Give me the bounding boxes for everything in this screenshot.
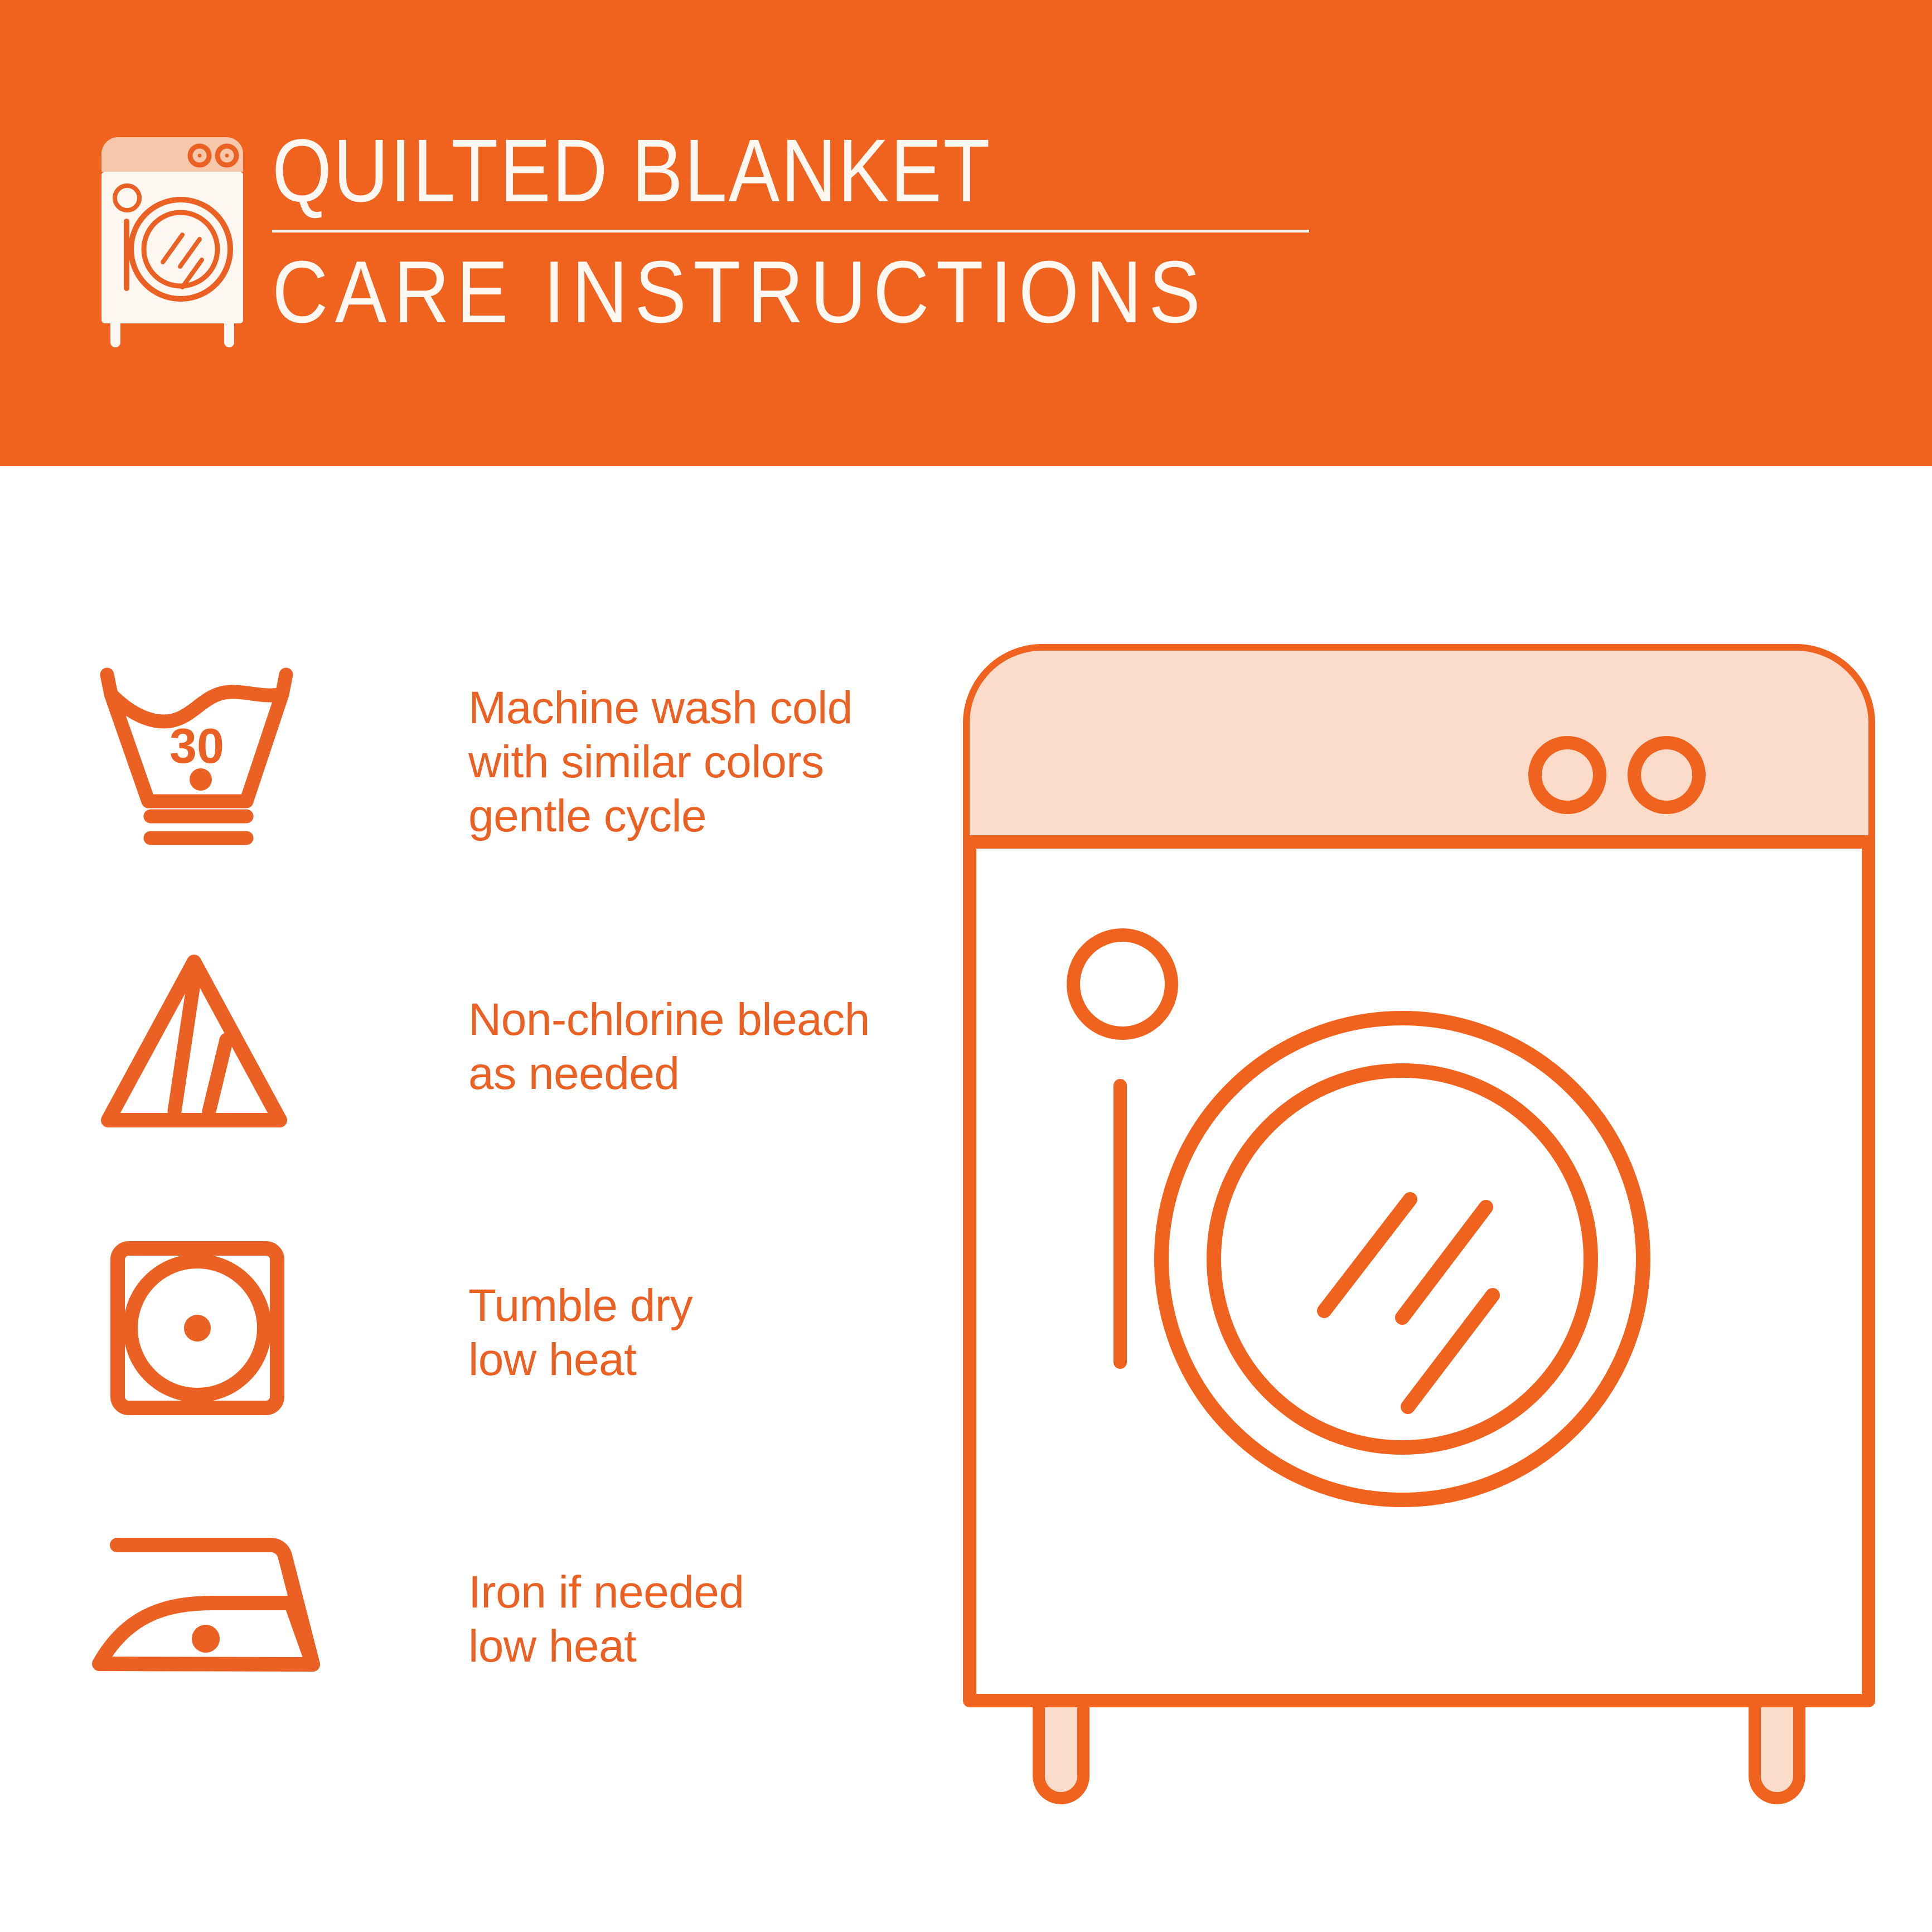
leg-right bbox=[1755, 1698, 1799, 1798]
page-subtitle: CARE INSTRUCTIONS bbox=[272, 246, 1204, 338]
care-label-iron: Iron if needed low heat bbox=[468, 1565, 931, 1673]
care-row-tumble-dry: Tumble dry low heat bbox=[84, 1218, 931, 1503]
care-label-line: low heat bbox=[468, 1333, 931, 1387]
header-inner: QUILTED BLANKET CARE INSTRUCTIONS bbox=[84, 124, 1366, 364]
leg-left bbox=[1039, 1698, 1083, 1798]
header-banner: QUILTED BLANKET CARE INSTRUCTIONS bbox=[0, 0, 1932, 466]
header-text-block: QUILTED BLANKET CARE INSTRUCTIONS bbox=[272, 124, 1331, 338]
handle-bar bbox=[1113, 1079, 1127, 1369]
care-label-line: low heat bbox=[468, 1619, 931, 1673]
care-row-iron: Iron if needed low heat bbox=[84, 1503, 931, 1787]
care-label-line: gentle cycle bbox=[468, 789, 931, 843]
care-label-bleach: Non-chlorine bleach as needed bbox=[468, 992, 931, 1101]
care-row-machine-wash: 30 Machine wash cold with similar colors… bbox=[84, 650, 931, 934]
care-label-line: with similar colors bbox=[468, 735, 931, 789]
care-label-machine-wash: Machine wash cold with similar colors ge… bbox=[468, 681, 931, 843]
top-control-panel bbox=[970, 651, 1868, 842]
care-label-line: as needed bbox=[468, 1047, 931, 1101]
care-row-bleach: Non-chlorine bleach as needed bbox=[84, 934, 931, 1218]
care-label-line: Iron if needed bbox=[468, 1565, 931, 1619]
title-divider bbox=[272, 230, 1309, 233]
iron-low-heat-icon bbox=[95, 1535, 318, 1741]
care-label-tumble-dry: Tumble dry low heat bbox=[468, 1279, 931, 1387]
care-instruction-list: 30 Machine wash cold with similar colors… bbox=[84, 650, 931, 1787]
page-title: QUILTED BLANKET bbox=[272, 124, 1183, 217]
front-load-washing-machine-illustration bbox=[956, 638, 1882, 1826]
non-chlorine-bleach-triangle-icon bbox=[95, 941, 318, 1147]
wash-temperature-value: 30 bbox=[170, 718, 224, 773]
washing-machine-icon bbox=[84, 129, 268, 352]
wash-basin-30-icon: 30 bbox=[95, 661, 318, 867]
care-label-line: Non-chlorine bleach bbox=[468, 992, 931, 1047]
tumble-dry-low-icon bbox=[95, 1236, 318, 1442]
care-label-line: Machine wash cold bbox=[468, 681, 931, 735]
care-label-line: Tumble dry bbox=[468, 1279, 931, 1333]
